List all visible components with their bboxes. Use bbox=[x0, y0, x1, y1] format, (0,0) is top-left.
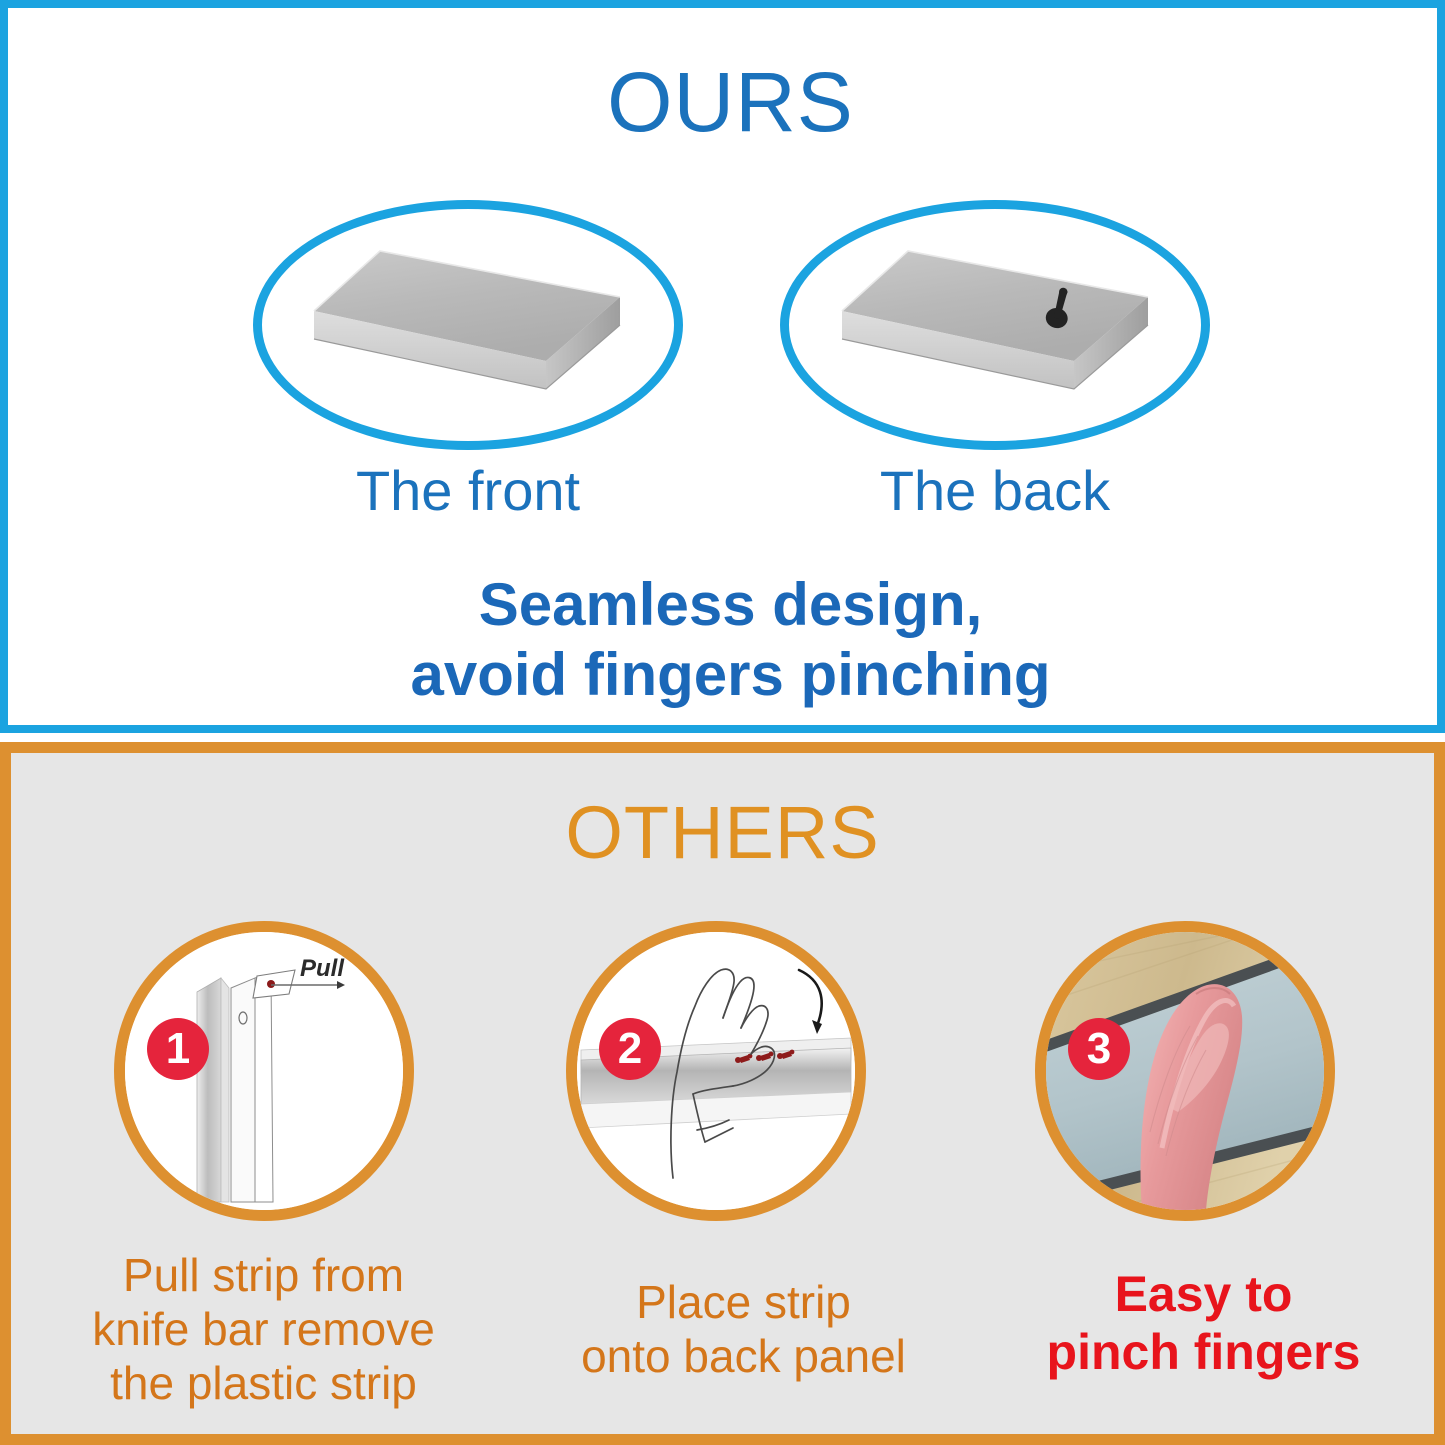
others-step-1-caption-line-1: Pull strip from bbox=[21, 1248, 506, 1302]
ours-back-label: The back bbox=[815, 460, 1175, 522]
others-step-2-caption-line-1: Place strip bbox=[516, 1275, 971, 1329]
others-step-3-oval-frame: 3 bbox=[1035, 921, 1335, 1221]
ours-tagline-line-2: avoid fingers pinching bbox=[8, 640, 1445, 710]
pull-annotation-text: Pull bbox=[300, 955, 345, 982]
others-step-1-caption-line-3: the plastic strip bbox=[21, 1356, 506, 1410]
others-step-2-caption: Place strip onto back panel bbox=[516, 1275, 971, 1383]
others-title: OTHERS bbox=[11, 795, 1434, 871]
comparison-infographic: OURS bbox=[0, 0, 1445, 1445]
others-step-1-caption: Pull strip from knife bar remove the pla… bbox=[21, 1248, 506, 1410]
others-step-3-caption-line-1: Easy to bbox=[976, 1265, 1431, 1323]
others-step-3-caption: Easy to pinch fingers bbox=[976, 1265, 1431, 1381]
others-step-1-oval-frame: 1 Pull bbox=[114, 921, 414, 1221]
ours-front-label: The front bbox=[288, 460, 648, 522]
others-panel: OTHERS 1 bbox=[0, 742, 1445, 1445]
step-2-number-badge: 2 bbox=[599, 1018, 661, 1080]
knife-bar-back-keyhole-icon bbox=[836, 243, 1156, 393]
others-step-2-oval-frame: 2 bbox=[566, 921, 866, 1221]
others-step-1-caption-line-2: knife bar remove bbox=[21, 1302, 506, 1356]
ours-tagline-line-1: Seamless design, bbox=[8, 570, 1445, 640]
knife-bar-front-icon bbox=[308, 243, 628, 393]
others-step-2-caption-line-2: onto back panel bbox=[516, 1329, 971, 1383]
others-step-3-caption-line-2: pinch fingers bbox=[976, 1323, 1431, 1381]
ours-title: OURS bbox=[8, 60, 1445, 144]
step-1-number-badge: 1 bbox=[147, 1018, 209, 1080]
ours-tagline: Seamless design, avoid fingers pinching bbox=[8, 570, 1445, 710]
step-3-number-badge: 3 bbox=[1068, 1018, 1130, 1080]
ours-panel: OURS bbox=[0, 0, 1445, 733]
